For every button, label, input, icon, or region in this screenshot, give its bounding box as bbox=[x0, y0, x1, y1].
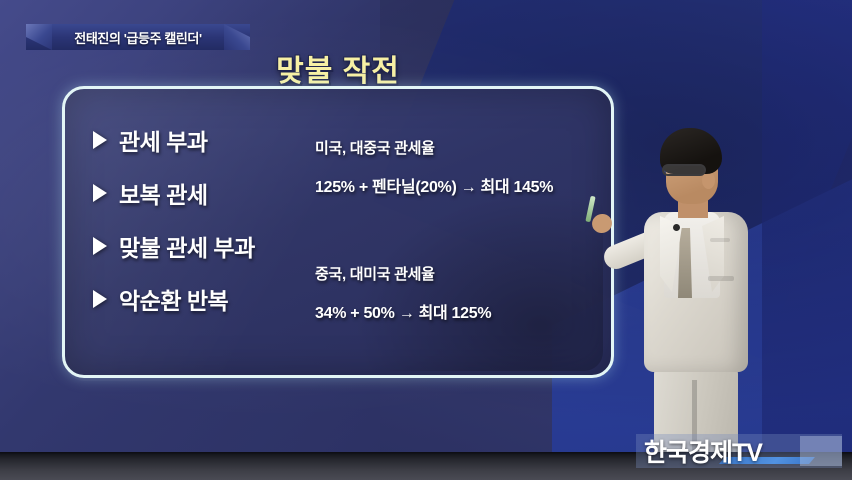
bullet-list: 관세 부과 보복 관세 맞불 관세 부과 악순환 반복 bbox=[93, 121, 353, 333]
note-heading-us: 미국, 대중국 관세율 bbox=[315, 137, 435, 158]
slide-title: 맞불 작전 bbox=[60, 46, 616, 90]
glasses-icon bbox=[662, 164, 706, 176]
program-banner-label: 전태진의 '급등주 캘린더' bbox=[52, 24, 224, 50]
presenter-ear bbox=[702, 172, 715, 189]
slide-content-card: 관세 부과 보복 관세 맞불 관세 부과 악순환 반복 미국, 대중국 관세율 … bbox=[62, 86, 614, 378]
list-item: 보복 관세 bbox=[93, 174, 353, 212]
presenter bbox=[616, 128, 796, 458]
presenter-pocket bbox=[708, 276, 734, 281]
triangle-right-icon bbox=[93, 237, 107, 255]
presenter-chest-pocket bbox=[710, 238, 730, 242]
bullet-label: 보복 관세 bbox=[119, 176, 208, 210]
triangle-right-icon bbox=[93, 131, 107, 149]
bullet-label: 맞불 관세 부과 bbox=[119, 229, 255, 263]
bullet-label: 악순환 반복 bbox=[119, 282, 228, 316]
note-heading-china: 중국, 대미국 관세율 bbox=[315, 263, 435, 284]
triangle-right-icon bbox=[93, 290, 107, 308]
triangle-right-icon bbox=[93, 184, 107, 202]
lapel-mic-icon bbox=[673, 224, 680, 231]
list-item: 맞불 관세 부과 bbox=[93, 227, 353, 265]
note-body-china: 34% + 50% → 최대 125% bbox=[315, 299, 491, 323]
channel-logo-label: 한국경제TV bbox=[644, 434, 762, 468]
bullet-label: 관세 부과 bbox=[119, 123, 208, 157]
list-item: 악순환 반복 bbox=[93, 280, 353, 318]
note-body-us: 125% + 펜타닐(20%) → 최대 145% bbox=[315, 173, 553, 197]
list-item: 관세 부과 bbox=[93, 121, 353, 159]
broadcast-screen: 전태진의 '급등주 캘린더' 맞불 작전 관세 부과 보복 관세 맞불 관세 부… bbox=[0, 0, 852, 480]
channel-logo-chip bbox=[800, 436, 842, 466]
